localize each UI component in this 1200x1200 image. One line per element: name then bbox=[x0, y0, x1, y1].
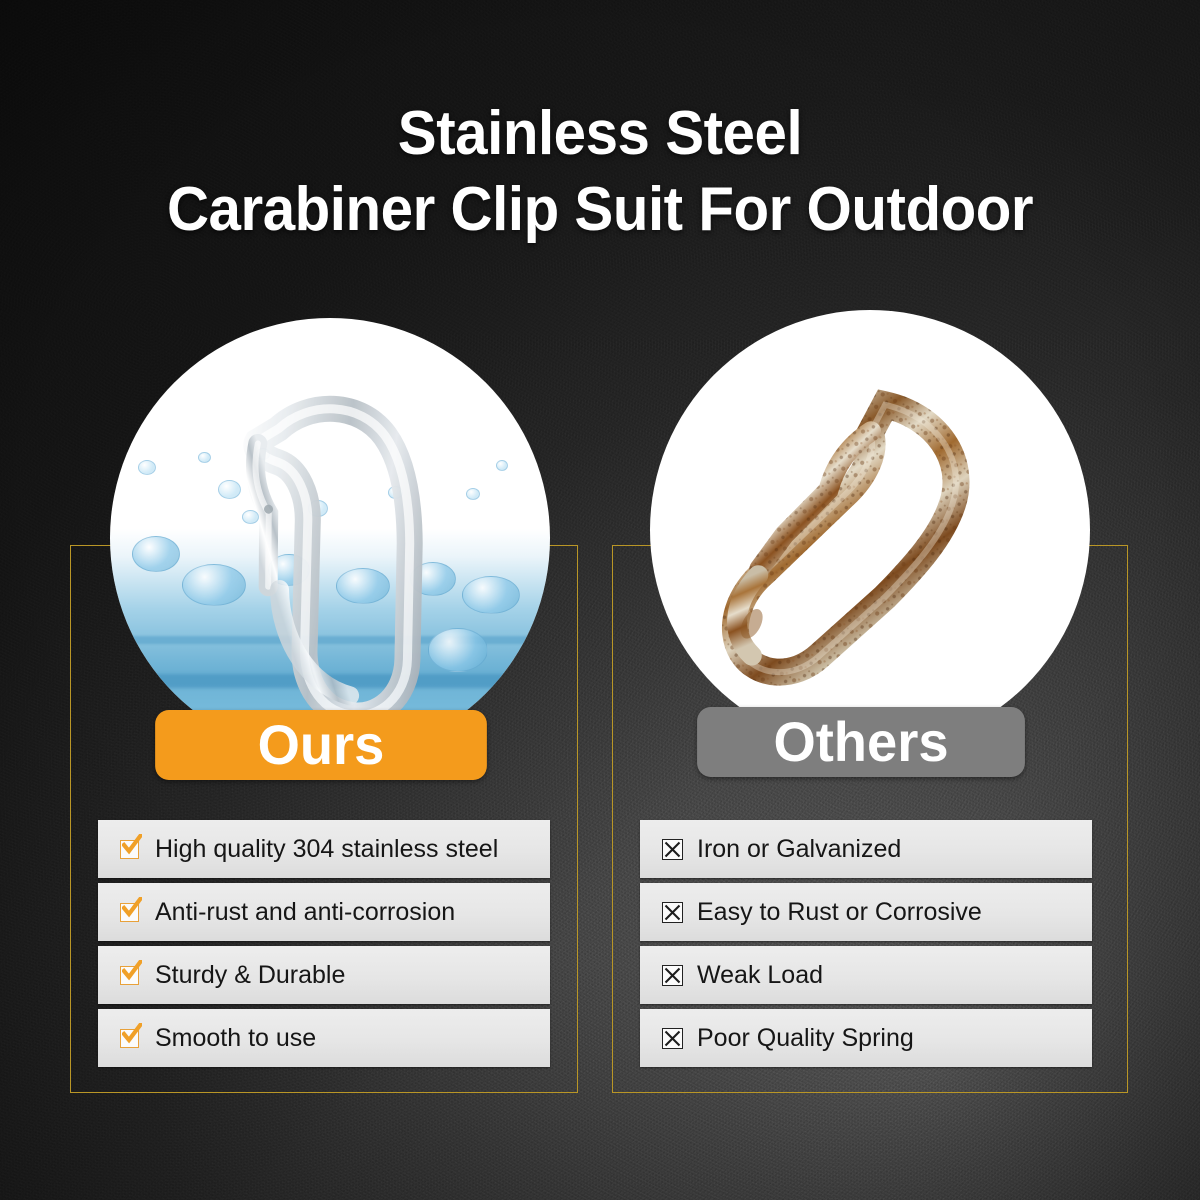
title-line-2: Carabiner Clip Suit For Outdoor bbox=[36, 172, 1164, 248]
product-image-others bbox=[650, 310, 1090, 750]
feature-row: Sturdy & Durable bbox=[98, 946, 550, 1004]
feature-label: Sturdy & Durable bbox=[155, 961, 345, 989]
feature-label: Weak Load bbox=[697, 961, 823, 989]
product-image-ours bbox=[110, 318, 550, 758]
feature-label: Smooth to use bbox=[155, 1024, 316, 1052]
title-line-1: Stainless Steel bbox=[398, 99, 802, 168]
x-icon bbox=[662, 901, 684, 923]
carabiner-clip-rusted-icon bbox=[650, 310, 1090, 750]
check-icon bbox=[120, 964, 142, 986]
feature-list-ours: High quality 304 stainless steel Anti-ru… bbox=[98, 820, 550, 1072]
feature-row: Poor Quality Spring bbox=[640, 1009, 1092, 1067]
feature-label: Iron or Galvanized bbox=[697, 835, 901, 863]
feature-list-others: Iron or Galvanized Easy to Rust or Corro… bbox=[640, 820, 1092, 1072]
feature-row: Easy to Rust or Corrosive bbox=[640, 883, 1092, 941]
feature-label: Easy to Rust or Corrosive bbox=[697, 898, 982, 926]
page-title: Stainless Steel Carabiner Clip Suit For … bbox=[36, 96, 1164, 248]
x-icon bbox=[662, 1027, 684, 1049]
badge-ours: Ours bbox=[155, 710, 487, 780]
check-icon bbox=[120, 838, 142, 860]
x-icon bbox=[662, 838, 684, 860]
badge-others: Others bbox=[697, 707, 1025, 777]
feature-label: Poor Quality Spring bbox=[697, 1024, 914, 1052]
carabiner-clip-clean-icon bbox=[110, 318, 550, 758]
product-comparison-infographic: Stainless Steel Carabiner Clip Suit For … bbox=[0, 0, 1200, 1200]
check-icon bbox=[120, 901, 142, 923]
feature-row: Smooth to use bbox=[98, 1009, 550, 1067]
feature-row: Iron or Galvanized bbox=[640, 820, 1092, 878]
feature-label: High quality 304 stainless steel bbox=[155, 835, 498, 863]
feature-row: Anti-rust and anti-corrosion bbox=[98, 883, 550, 941]
feature-row: High quality 304 stainless steel bbox=[98, 820, 550, 878]
x-icon bbox=[662, 964, 684, 986]
feature-row: Weak Load bbox=[640, 946, 1092, 1004]
feature-label: Anti-rust and anti-corrosion bbox=[155, 898, 455, 926]
check-icon bbox=[120, 1027, 142, 1049]
